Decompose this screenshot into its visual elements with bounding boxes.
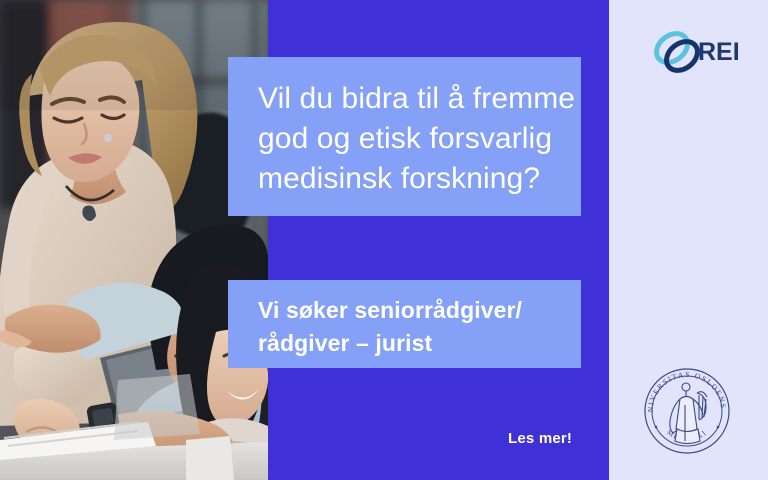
recruitment-banner: REK UNIVERSITAS OSLOENSIS MDCCCXI [0,0,768,480]
headline-box: Vil du bidra til å fremme god og etisk f… [228,57,581,216]
job-title-line-1: Vi søker seniorrådgiver/ [258,294,563,327]
job-title-line-2: rådgiver – jurist [258,327,563,360]
job-title-box: Vi søker seniorrådgiver/ rådgiver – juri… [228,280,581,368]
uio-seal: UNIVERSITAS OSLOENSIS MDCCCXI [641,365,733,457]
headline-line-1: Vil du bidra til å fremme [258,79,555,119]
rek-logo: REK [648,26,738,78]
read-more-link[interactable]: Les mer! [508,430,572,447]
rek-wordmark: REK [698,38,738,66]
headline-line-3: medisinsk forskning? [258,159,555,199]
headline-line-2: god og etisk forsvarlig [258,119,555,159]
